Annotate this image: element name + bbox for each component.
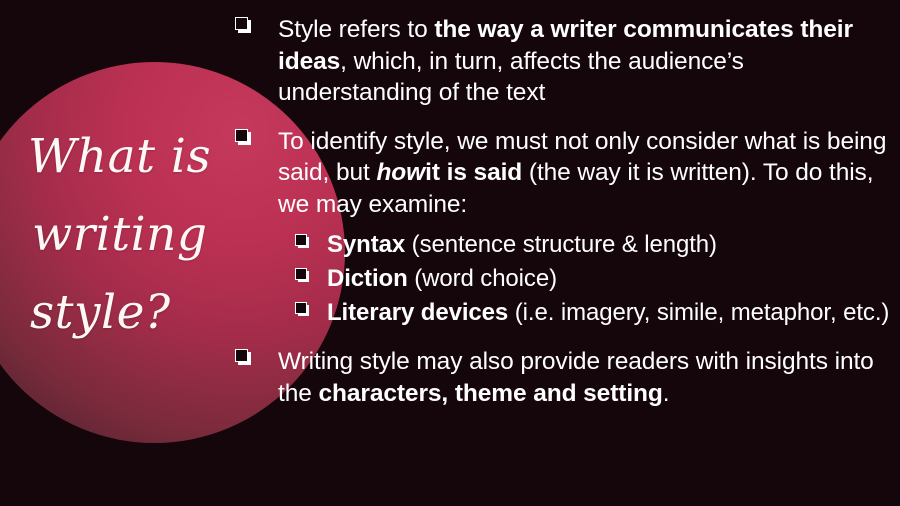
bullet-identify-style: To identify style, we must not only cons… [233,126,893,330]
subbullet-diction: Diction (word choice) [291,263,893,295]
bullet-text: Writing style may also provide readers w… [278,348,874,407]
hollow-square-bullet-icon [235,17,251,33]
bullet-style-definition: Style refers to the way a writer communi… [233,14,893,109]
subbullet-literary-devices: Literary devices (i.e. imagery, simile, … [291,297,893,329]
bullet-reader-insights: Writing style may also provide readers w… [233,346,893,409]
hollow-square-bullet-icon [235,349,251,365]
page-title-line-2: writing [26,196,232,274]
bullet-text: Style refers to the way a writer communi… [278,16,853,106]
sub-bullet-list: Syntax (sentence structure & length) Dic… [278,229,893,329]
subbullet-text: Literary devices (i.e. imagery, simile, … [327,299,889,326]
hollow-square-bullet-icon [295,268,309,282]
hollow-square-bullet-icon [235,129,251,145]
page-title-line-3: style? [26,274,232,352]
subbullet-syntax: Syntax (sentence structure & length) [291,229,893,261]
slide: What is writing style? Style refers to t… [0,0,900,506]
page-title: What is writing style? [0,118,232,352]
subbullet-text: Syntax (sentence structure & length) [327,231,717,258]
hollow-square-bullet-icon [295,302,309,316]
hollow-square-bullet-icon [295,234,309,248]
subbullet-text: Diction (word choice) [327,265,557,292]
bullet-text: To identify style, we must not only cons… [278,128,886,218]
page-title-line-1: What is [26,118,232,196]
title-panel: What is writing style? [0,0,240,506]
body-content: Style refers to the way a writer communi… [233,14,893,409]
